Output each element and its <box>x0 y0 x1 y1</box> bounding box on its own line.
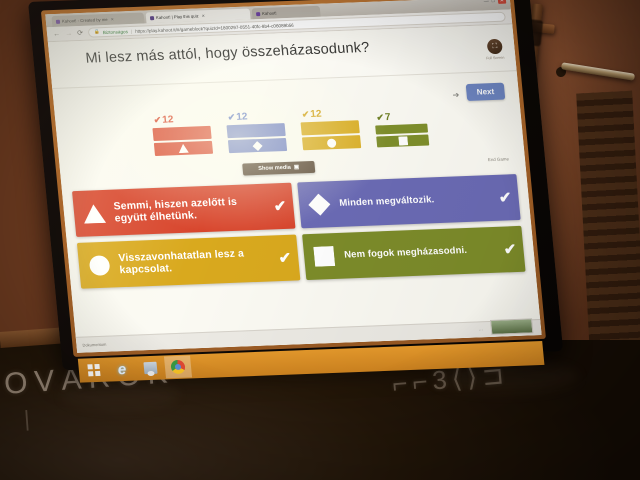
diamond-icon <box>305 193 333 216</box>
tab-title: Kahoot! <box>262 10 277 16</box>
result-count-diamond: ✔12 <box>227 111 248 123</box>
result-bar-triangle: ✔12 <box>152 126 213 156</box>
kahoot-page: Mi lesz más attól, hogy összeházasodunk?… <box>48 24 542 352</box>
projected-desktop: Kahoot! - Created by me ✕ Kahoot! | Play… <box>45 0 541 353</box>
tab-favicon <box>56 19 60 23</box>
download-thumbnail[interactable] <box>490 318 533 335</box>
square-icon <box>310 246 338 267</box>
answer-card-square[interactable]: Nem fogok megházasodni. ✔ <box>302 226 526 280</box>
tab-close-icon[interactable]: ✕ <box>201 13 205 18</box>
answer-card-triangle[interactable]: Semmi, hiszen azelőtt is együtt élhetünk… <box>72 183 296 237</box>
end-game-link[interactable]: End Game <box>488 156 509 162</box>
circle-icon <box>326 138 337 148</box>
lock-icon: 🔒 <box>94 29 100 35</box>
omnibox-separator: | <box>131 28 133 33</box>
result-count-triangle: ✔12 <box>153 114 174 126</box>
question-text: Mi lesz más attól, hogy összeházasodunk? <box>85 37 437 67</box>
triangle-icon <box>80 203 108 223</box>
show-media-label: Show media <box>258 165 291 172</box>
mouse-cursor-icon: ➔ <box>452 90 460 99</box>
tab-title: Kahoot! - Created by me <box>62 17 108 24</box>
internet-explorer-icon[interactable]: e <box>108 358 136 381</box>
square-icon <box>398 136 408 145</box>
chalk-writing-sub: | <box>23 406 31 432</box>
result-count-circle: ✔12 <box>301 109 322 121</box>
result-bar-circle: ✔12 <box>301 120 362 150</box>
maximize-button[interactable]: □ <box>491 0 495 4</box>
correct-check-icon: ✔ <box>273 197 287 215</box>
next-button[interactable]: Next <box>466 83 506 101</box>
answer-card-circle[interactable]: Visszavonhatatlan lesz a kapcsolat. ✔ <box>77 235 301 289</box>
correct-check-icon: ✔ <box>503 240 517 258</box>
answer-text: Nem fogok megházasodni. <box>344 244 498 261</box>
answer-text: Semmi, hiszen azelőtt is együtt élhetünk… <box>113 194 268 225</box>
result-count-square: ✔7 <box>376 112 391 123</box>
classroom-scene: OVÁROK | ⌐⌐3⟨⟩⊐ Kahoot! - Created by me … <box>0 0 640 480</box>
triangle-icon <box>178 144 189 153</box>
media-icon: ▣ <box>294 164 300 170</box>
download-menu-icon[interactable]: ⋯ <box>479 327 485 332</box>
reload-icon[interactable]: ⟳ <box>77 29 84 36</box>
answer-distribution-chart: ✔12 ✔12 <box>149 85 435 155</box>
correct-check-icon: ✔ <box>498 188 512 206</box>
close-button[interactable]: ✕ <box>497 0 506 4</box>
show-media-button[interactable]: Show media ▣ <box>242 161 315 176</box>
google-chrome-icon[interactable] <box>164 355 192 378</box>
tab-favicon <box>256 12 260 16</box>
windows-start-icon[interactable] <box>80 359 108 382</box>
tab-close-icon[interactable]: ✕ <box>110 17 114 22</box>
result-bar-square: ✔7 <box>375 124 429 148</box>
tab-title: Kahoot! | Play this quiz <box>156 13 199 20</box>
fullscreen-icon[interactable]: ⛶ <box>487 39 503 55</box>
screen-bezel: Kahoot! - Created by me ✕ Kahoot! | Play… <box>41 0 546 357</box>
result-bar-diamond: ✔12 <box>226 123 287 153</box>
answer-cards: Semmi, hiszen azelőtt is együtt élhetünk… <box>72 174 526 295</box>
circle-icon <box>85 254 113 276</box>
download-filename[interactable]: Dokumentum <box>82 342 106 348</box>
address-bar-url: https://play.kahoot.it/#/gameblock?quizI… <box>135 22 294 33</box>
answer-card-diamond[interactable]: Minden megváltozik. ✔ <box>297 174 521 228</box>
projector-screen: Kahoot! - Created by me ✕ Kahoot! | Play… <box>28 0 564 382</box>
diamond-icon <box>252 140 263 150</box>
store-icon[interactable] <box>136 357 164 380</box>
correct-check-icon: ✔ <box>278 249 292 267</box>
fullscreen-label: Full Screen <box>483 56 507 61</box>
answer-text: Visszavonhatatlan lesz a kapcsolat. <box>118 246 273 277</box>
tab-favicon <box>150 16 154 20</box>
forward-icon[interactable]: → <box>65 30 73 37</box>
minimize-button[interactable]: — <box>483 0 489 4</box>
secure-label: Biztonságos <box>103 29 129 35</box>
back-icon[interactable]: ← <box>53 30 61 37</box>
answer-text: Minden megváltozik. <box>339 192 493 209</box>
